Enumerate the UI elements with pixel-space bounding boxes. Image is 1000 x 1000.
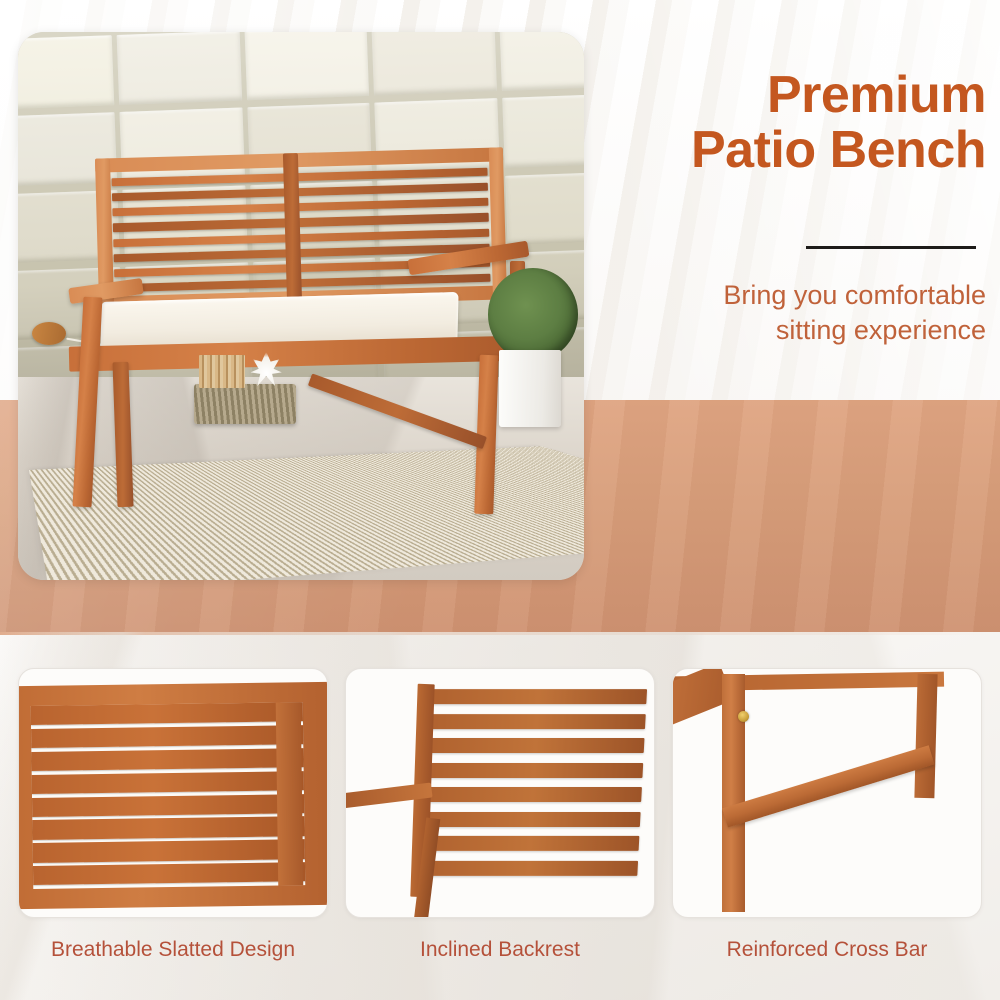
planter-pot: [499, 350, 561, 427]
cross-bar-left-leg: [722, 674, 745, 912]
cross-bar-right-leg: [915, 674, 938, 798]
detail-card-slatted-design: [18, 668, 328, 918]
subtitle-line-2: sitting experience: [620, 313, 986, 348]
bench-leg-rear-left: [113, 362, 134, 507]
headline-line-2: Patio Bench: [604, 123, 986, 178]
subtitle: Bring you comfortable sitting experience: [620, 278, 986, 347]
detail-card-cross-bar: [672, 668, 982, 918]
headline-line-1: Premium: [767, 66, 986, 124]
bench-leg-front-left: [73, 297, 103, 507]
inclined-backrest-art: [421, 689, 647, 877]
cross-bar-diagonal-brace: [722, 745, 934, 827]
patio-bench: [69, 153, 533, 515]
main-product-photo: [18, 32, 584, 580]
detail-caption-0: Breathable Slatted Design: [18, 938, 328, 962]
wicker-basket: [194, 384, 296, 424]
subtitle-line-1: Bring you comfortable: [723, 280, 986, 310]
bench-cross-brace: [308, 374, 487, 450]
screw-icon: [738, 711, 749, 722]
product-scene: [18, 32, 584, 580]
detail-caption-2: Reinforced Cross Bar: [672, 938, 982, 962]
bench-backrest: [95, 147, 507, 310]
title-divider: [806, 246, 976, 249]
books: [199, 355, 245, 388]
detail-caption-1: Inclined Backrest: [345, 938, 655, 962]
page-title: Premium Patio Bench: [604, 68, 986, 178]
poster-canvas: Premium Patio Bench Bring you comfortabl…: [0, 0, 1000, 1000]
slatted-panel-inner: [31, 702, 306, 889]
slatted-panel-frame: [18, 682, 328, 910]
detail-card-inclined-backrest: [345, 668, 655, 918]
potted-plant-foliage: [488, 268, 579, 361]
